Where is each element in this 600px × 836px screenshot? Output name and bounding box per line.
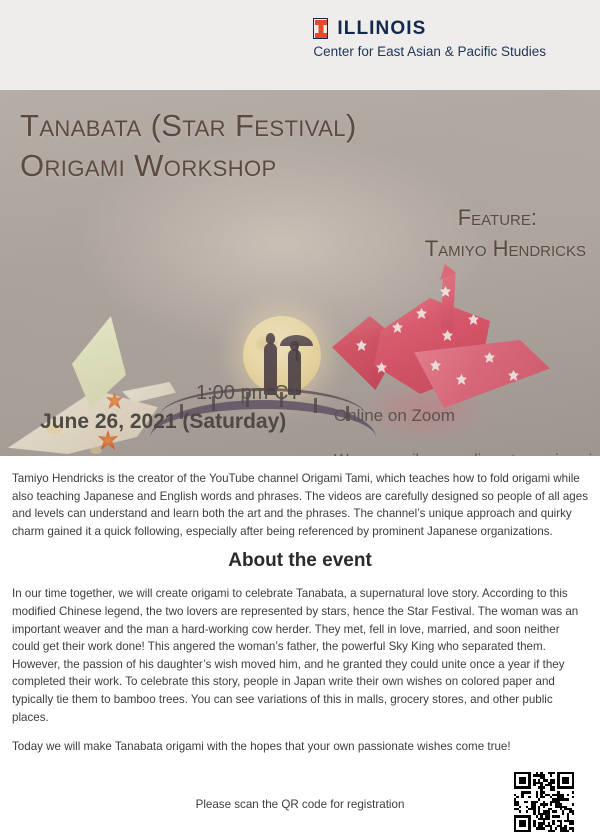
hero-banner: Tanabata (Star Festival) Origami Worksho… [0,90,600,456]
illinois-brand-lockup: ILLINOIS Center for East Asian & Pacific… [313,18,546,60]
presenter-bio-paragraph: Tamiyo Hendricks is the creator of the Y… [12,470,588,540]
feature-block: Feature: Tamiyo Hendricks [425,202,586,264]
event-time: 1:00 pm CT [196,382,300,405]
about-the-event-paragraph: In our time together, we will create ori… [12,585,588,726]
page-header: ILLINOIS Center for East Asian & Pacific… [0,0,600,90]
closing-paragraph: Today we will make Tanabata origami with… [12,738,588,756]
center-name: Center for East Asian & Pacific Studies [313,44,546,60]
illinois-block-i-icon [313,18,328,39]
brand-top-row: ILLINOIS [313,18,546,39]
event-date: June 26, 2021 (Saturday) [40,410,286,434]
origami-kit-note: We can mail a complimentary origami supp… [334,450,597,456]
event-platform: Online on Zoom [334,404,597,428]
event-location-block: Online on Zoom We can mail a complimenta… [334,382,597,456]
qr-caption: Please scan the QR code for registration [12,798,588,811]
registration-footer: Please scan the QR code for registration [12,770,588,836]
feature-label: Feature: [425,202,586,233]
about-the-event-heading: About the event [12,550,588,572]
qr-code-icon[interactable] [512,770,576,834]
page-title: Tanabata (Star Festival) Origami Worksho… [20,106,357,187]
page-body: Tamiyo Hendricks is the creator of the Y… [0,456,600,836]
feature-presenter-name: Tamiyo Hendricks [425,233,586,264]
illinois-wordmark: ILLINOIS [337,19,426,38]
